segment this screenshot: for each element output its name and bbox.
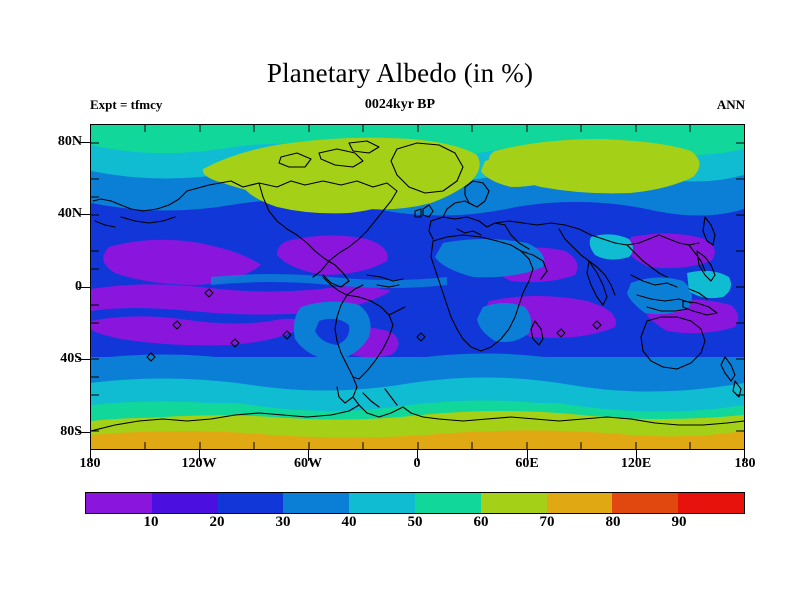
y-major-tick [78, 287, 90, 288]
colorbar-label-30: 30 [263, 514, 303, 531]
x-major-tick [90, 450, 91, 461]
colorbar-label-90: 90 [659, 514, 699, 531]
albedo-figure: Planetary Albedo (in %) 0024kyr BP Expt … [0, 0, 800, 600]
y-axis-tick-0: 0 [30, 279, 82, 295]
colorbar-label-10: 10 [131, 514, 171, 531]
colorbar-label-80: 80 [593, 514, 633, 531]
y-major-tick [78, 432, 90, 433]
colorbar-swatch-0 [86, 493, 152, 513]
y-axis-tick-40s: 40S [30, 351, 82, 367]
x-major-tick [199, 450, 200, 461]
y-major-tick [78, 359, 90, 360]
colorbar-swatch-3 [283, 493, 349, 513]
colorbar-swatch-5 [415, 493, 481, 513]
colorbar [85, 492, 745, 514]
map-plot-area [90, 124, 745, 450]
colorbar-swatch-2 [218, 493, 284, 513]
colorbar-swatch-1 [152, 493, 218, 513]
season-label: ANN [0, 97, 745, 113]
colorbar-label-50: 50 [395, 514, 435, 531]
y-axis-tick-80n: 80N [30, 134, 82, 150]
colorbar-swatch-6 [481, 493, 547, 513]
colorbar-swatch-7 [547, 493, 613, 513]
colorbar-swatch-4 [349, 493, 415, 513]
x-major-tick [417, 450, 418, 461]
colorbar-label-70: 70 [527, 514, 567, 531]
y-major-tick [78, 142, 90, 143]
colorbar-label-20: 20 [197, 514, 237, 531]
x-major-tick [744, 450, 745, 461]
colorbar-swatch-8 [612, 493, 678, 513]
y-major-tick [78, 214, 90, 215]
x-axis-tick-180e: 180 [715, 456, 775, 472]
x-major-tick [636, 450, 637, 461]
colorbar-label-40: 40 [329, 514, 369, 531]
colorbar-label-60: 60 [461, 514, 501, 531]
x-major-tick [527, 450, 528, 461]
x-major-tick [308, 450, 309, 461]
y-axis-tick-80s: 80S [30, 424, 82, 440]
y-axis-tick-40n: 40N [30, 206, 82, 222]
page-title: Planetary Albedo (in %) [0, 58, 800, 89]
colorbar-swatch-9 [678, 493, 744, 513]
